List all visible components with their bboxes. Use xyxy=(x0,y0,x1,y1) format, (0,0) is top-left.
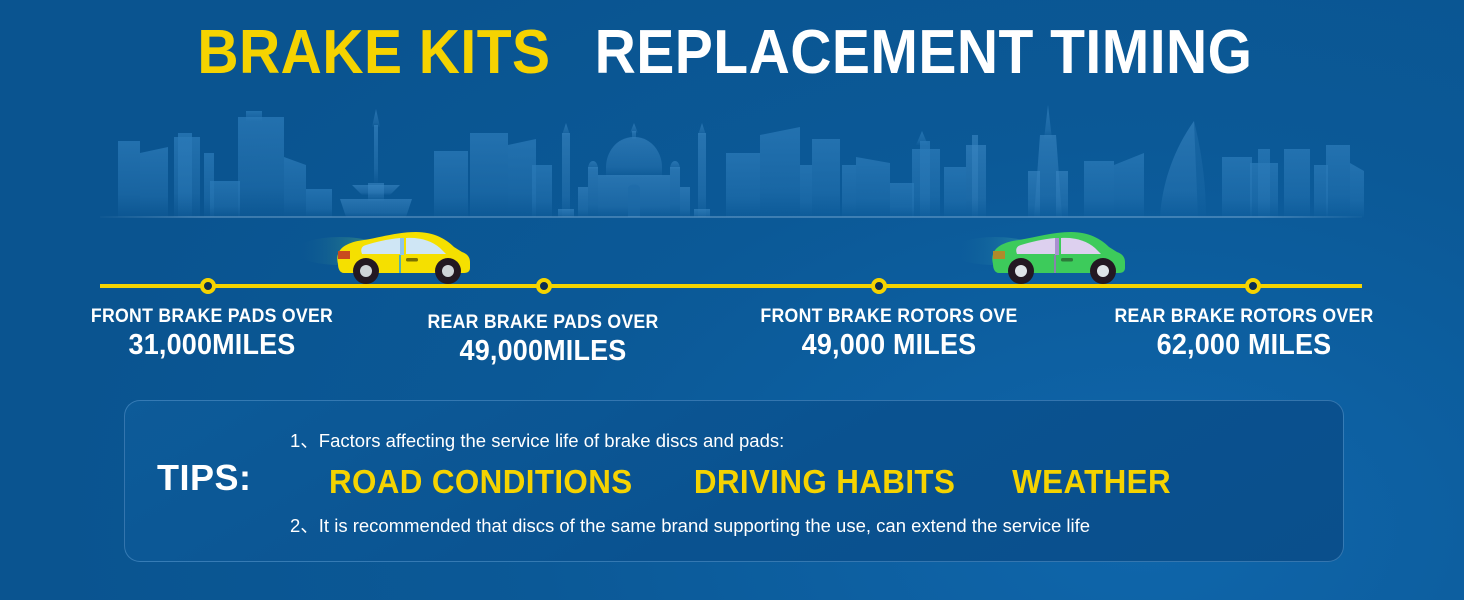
timeline-stop-3: FRONT BRAKE ROTORS OVE 49,000 MILES xyxy=(689,306,1089,362)
title-rest: REPLACEMENT TIMING xyxy=(595,22,1253,84)
tips-keywords: ROAD CONDITIONSDRIVING HABITSWEATHER xyxy=(321,463,1175,501)
stop-value: 49,000MILES xyxy=(357,335,729,368)
timeline-stop-2: REAR BRAKE PADS OVER 49,000MILES xyxy=(343,312,743,368)
tip-number-2: 2、 xyxy=(290,517,319,536)
tip-line-1: 1、Factors affecting the service life of … xyxy=(290,432,784,451)
tip-line-2: 2、It is recommended that discs of the sa… xyxy=(290,517,1090,536)
timeline-stop-4: REAR BRAKE ROTORS OVER 62,000 MILES xyxy=(1044,306,1444,362)
infographic-root: BRAKE KITS REPLACEMENT TIMING xyxy=(0,0,1464,600)
stop-value: 49,000 MILES xyxy=(703,329,1075,362)
stop-caption: FRONT BRAKE ROTORS OVE xyxy=(703,306,1075,328)
keyword-road-conditions: ROAD CONDITIONS xyxy=(329,463,633,501)
timeline-axis xyxy=(100,284,1362,288)
city-skyline-icon xyxy=(100,105,1364,217)
page-title: BRAKE KITS REPLACEMENT TIMING xyxy=(0,22,1464,84)
skyline-ground-line xyxy=(100,216,1362,218)
timeline-marker-3[interactable] xyxy=(871,278,887,294)
tip-text-2: It is recommended that discs of the same… xyxy=(319,515,1090,536)
tips-panel: TIPS: 1、Factors affecting the service li… xyxy=(124,400,1344,562)
keyword-driving-habits: DRIVING HABITS xyxy=(693,463,954,501)
stop-value: 62,000 MILES xyxy=(1058,329,1430,362)
green-car-icon xyxy=(955,218,1155,286)
timeline-marker-1[interactable] xyxy=(200,278,216,294)
tip-text-1: Factors affecting the service life of br… xyxy=(319,430,784,451)
tip-number-1: 1、 xyxy=(290,432,319,451)
stop-caption: REAR BRAKE ROTORS OVER xyxy=(1058,306,1430,328)
title-highlight: BRAKE KITS xyxy=(198,22,551,84)
timeline-marker-2[interactable] xyxy=(536,278,552,294)
timeline-marker-4[interactable] xyxy=(1245,278,1261,294)
keyword-weather: WEATHER xyxy=(1012,463,1171,501)
stop-caption: REAR BRAKE PADS OVER xyxy=(357,312,729,334)
tips-label: TIPS: xyxy=(157,457,252,499)
yellow-car-icon xyxy=(300,218,500,286)
